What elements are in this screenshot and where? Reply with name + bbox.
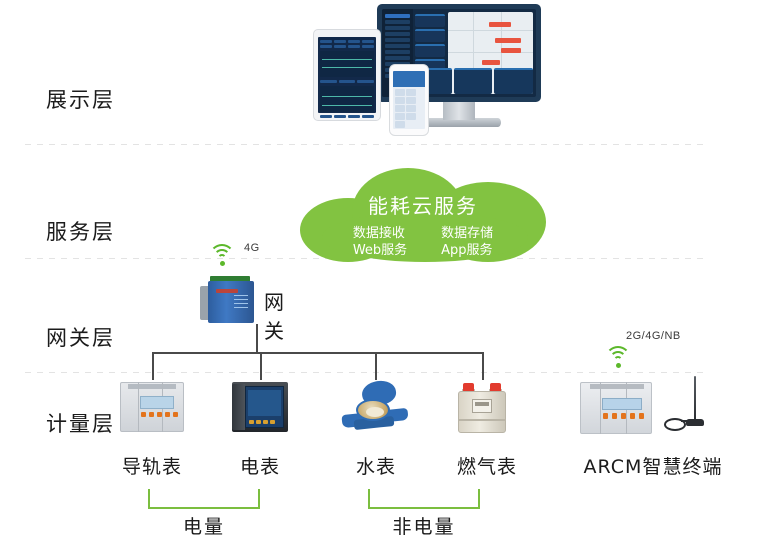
gas-meter-device bbox=[456, 383, 508, 433]
gateway-network-label: 4G bbox=[244, 242, 260, 254]
bus-drop-line-water-meter bbox=[375, 352, 377, 380]
din-rail-meter-label: 导轨表 bbox=[112, 452, 192, 479]
bus-drop-line-electric-meter bbox=[260, 352, 262, 380]
antenna-icon bbox=[664, 376, 710, 436]
dashboard-bottom-widgets bbox=[413, 68, 533, 94]
layer-divider-gateway-metering bbox=[25, 372, 705, 373]
architecture-diagram: 展示层 服务层 网关层 计量层 bbox=[0, 0, 777, 545]
cloud-title: 能耗云服务 bbox=[300, 190, 546, 219]
wifi-signal-icon bbox=[604, 346, 632, 368]
cloud-feature-data-storage: 数据存储 bbox=[441, 225, 493, 242]
bracket-electric-group bbox=[148, 489, 260, 509]
arcm-terminal-device bbox=[580, 382, 652, 434]
terminal-network-label: 2G/4G/NB bbox=[626, 330, 681, 342]
water-meter-label: 水表 bbox=[336, 452, 416, 479]
cloud-service-node: 能耗云服务 数据接收 Web服务 数据存储 App服务 bbox=[300, 168, 546, 262]
bus-drop-line-din-rail-meter bbox=[152, 352, 154, 380]
cloud-feature-app-service: App服务 bbox=[441, 242, 493, 259]
smartphone-device bbox=[389, 64, 429, 136]
cloud-feature-web-service: Web服务 bbox=[353, 242, 407, 259]
layer-label-metering: 计量层 bbox=[46, 408, 115, 438]
gateway-device bbox=[200, 276, 258, 324]
gas-meter-label: 燃气表 bbox=[442, 452, 532, 479]
tablet-device bbox=[313, 29, 381, 121]
cloud-feature-data-receive: 数据接收 bbox=[353, 225, 407, 242]
din-rail-meter-device bbox=[120, 382, 184, 432]
gateway-label: 网关 bbox=[264, 286, 285, 344]
layer-divider-presentation-service bbox=[25, 144, 705, 145]
layer-label-presentation: 展示层 bbox=[46, 84, 115, 114]
cloud-feature-column-left: 数据接收 Web服务 bbox=[353, 225, 407, 259]
tablet-dashboard-screen bbox=[318, 37, 376, 113]
bracket-label-electric: 电量 bbox=[158, 512, 250, 539]
electric-meter-device bbox=[232, 382, 288, 432]
bus-horizontal-line bbox=[152, 352, 483, 354]
cloud-feature-column-right: 数据存储 App服务 bbox=[441, 225, 493, 259]
water-meter-device bbox=[342, 381, 410, 433]
bracket-non-electric-group bbox=[368, 489, 480, 509]
bus-stem-line bbox=[256, 324, 258, 353]
bus-drop-line-gas-meter bbox=[482, 352, 484, 380]
layer-label-service: 服务层 bbox=[46, 216, 115, 246]
layer-label-gateway: 网关层 bbox=[46, 322, 115, 352]
bracket-label-non-electric: 非电量 bbox=[378, 512, 470, 539]
wifi-signal-icon bbox=[208, 244, 236, 266]
gateway-case bbox=[208, 281, 254, 323]
electric-meter-label: 电表 bbox=[220, 452, 300, 479]
monitor-stand-neck bbox=[443, 102, 475, 120]
presentation-devices-group bbox=[305, 2, 555, 134]
smartphone-app-screen bbox=[393, 71, 425, 129]
arcm-terminal-label: ARCM智慧终端 bbox=[578, 452, 728, 479]
